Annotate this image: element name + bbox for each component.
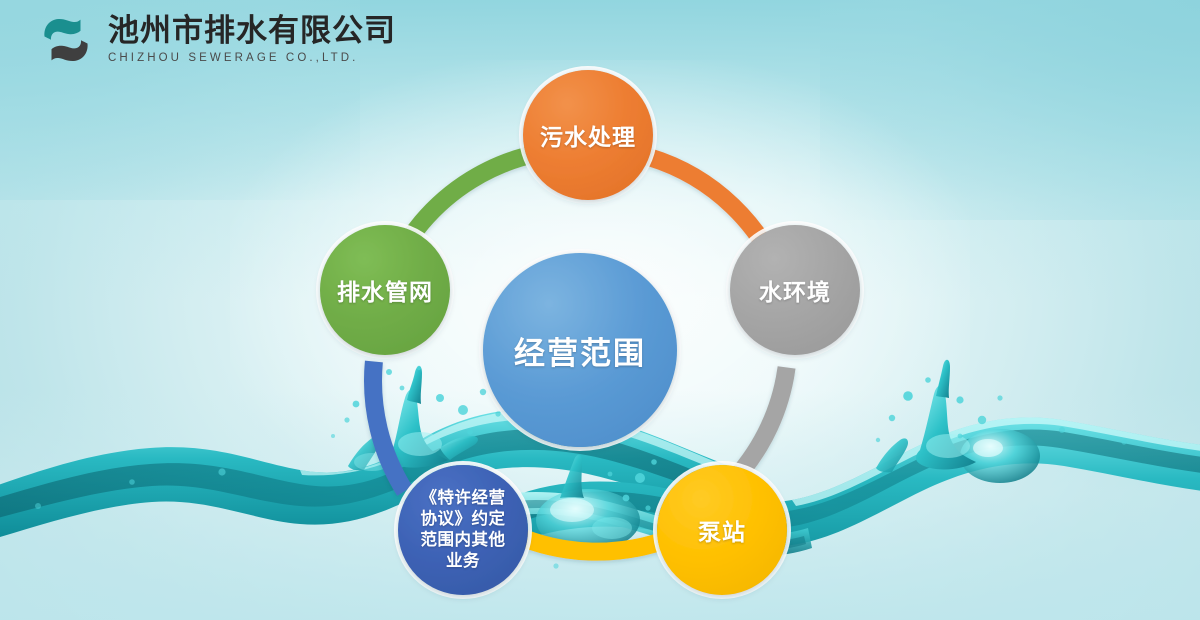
node-water-environment[interactable] bbox=[730, 225, 860, 355]
node-center-business-scope[interactable] bbox=[483, 253, 677, 447]
node-drainage-network[interactable] bbox=[320, 225, 450, 355]
node-franchise-agreement[interactable] bbox=[398, 465, 528, 595]
slide-canvas: 池州市排水有限公司 CHIZHOU SEWERAGE CO.,LTD. bbox=[0, 0, 1200, 620]
node-wastewater-treatment[interactable] bbox=[523, 70, 653, 200]
node-pump-station[interactable] bbox=[657, 465, 787, 595]
ring-segment-gray-arc bbox=[735, 367, 786, 478]
ring-segment-yellow-arc bbox=[515, 535, 659, 552]
business-scope-cycle-diagram bbox=[0, 0, 1200, 620]
ring-segment-blue-arc bbox=[373, 362, 405, 492]
